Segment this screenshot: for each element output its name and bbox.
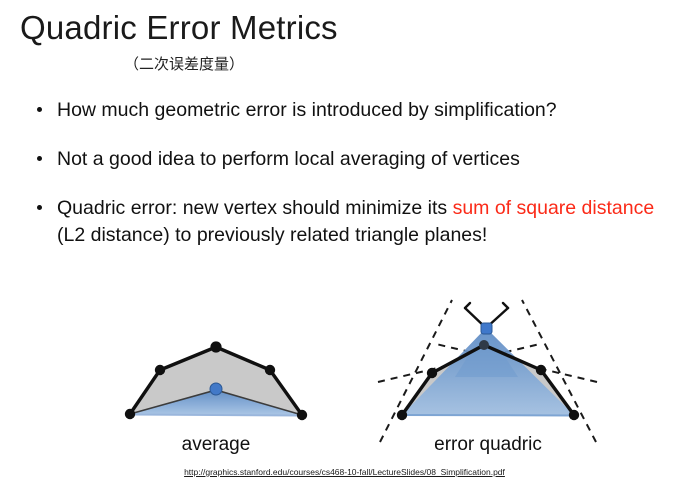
vertex-black: [536, 365, 546, 375]
simplification-diagrams: [0, 282, 689, 462]
vertex-black: [427, 368, 437, 378]
bullet-item-3: Quadric error: new vertex should minimiz…: [33, 195, 683, 249]
bullet-dot-icon: [37, 107, 42, 112]
bullet-item-2: Not a good idea to perform local averagi…: [33, 146, 683, 173]
new-vertex-blue: [481, 323, 492, 334]
bullet-dot-icon: [37, 156, 42, 161]
bullet-item-1: How much geometric error is introduced b…: [33, 97, 683, 124]
vertex-black: [210, 341, 221, 352]
page-title: Quadric Error Metrics: [20, 9, 338, 47]
bullet-text-1: How much geometric error is introduced b…: [57, 99, 557, 121]
figure-left-average: [125, 341, 307, 420]
vertex-black: [569, 410, 579, 420]
page-subtitle-chinese: （二次误差度量）: [124, 53, 244, 74]
vertex-black: [155, 365, 165, 375]
bullet-dot-icon: [37, 205, 42, 210]
baseline-right: [402, 415, 574, 416]
bullet-list: How much geometric error is introduced b…: [33, 97, 683, 271]
new-vertex-blue: [210, 383, 222, 395]
bullet-text-3-post: (L2 distance) to previously related tria…: [57, 224, 487, 246]
vertex-black: [397, 410, 407, 420]
vertex-black: [297, 410, 307, 420]
source-url-link[interactable]: http://graphics.stanford.edu/courses/cs4…: [0, 467, 689, 477]
figure-area: average error quadric http://graphics.st…: [0, 282, 689, 497]
bullet-text-2: Not a good idea to perform local averagi…: [57, 148, 520, 170]
bullet-text-3-pre: Quadric error: new vertex should minimiz…: [57, 197, 453, 219]
figure-right-error-quadric: [378, 300, 597, 442]
figure-left-caption: average: [170, 434, 262, 456]
vertex-black: [479, 340, 489, 350]
slide-canvas: Quadric Error Metrics （二次误差度量） How much …: [0, 0, 689, 497]
vertex-black: [265, 365, 275, 375]
vertex-black: [125, 409, 135, 419]
baseline-left: [130, 415, 302, 416]
bullet-text-3-highlight: sum of square distance: [453, 197, 655, 219]
figure-right-caption: error quadric: [418, 434, 558, 456]
